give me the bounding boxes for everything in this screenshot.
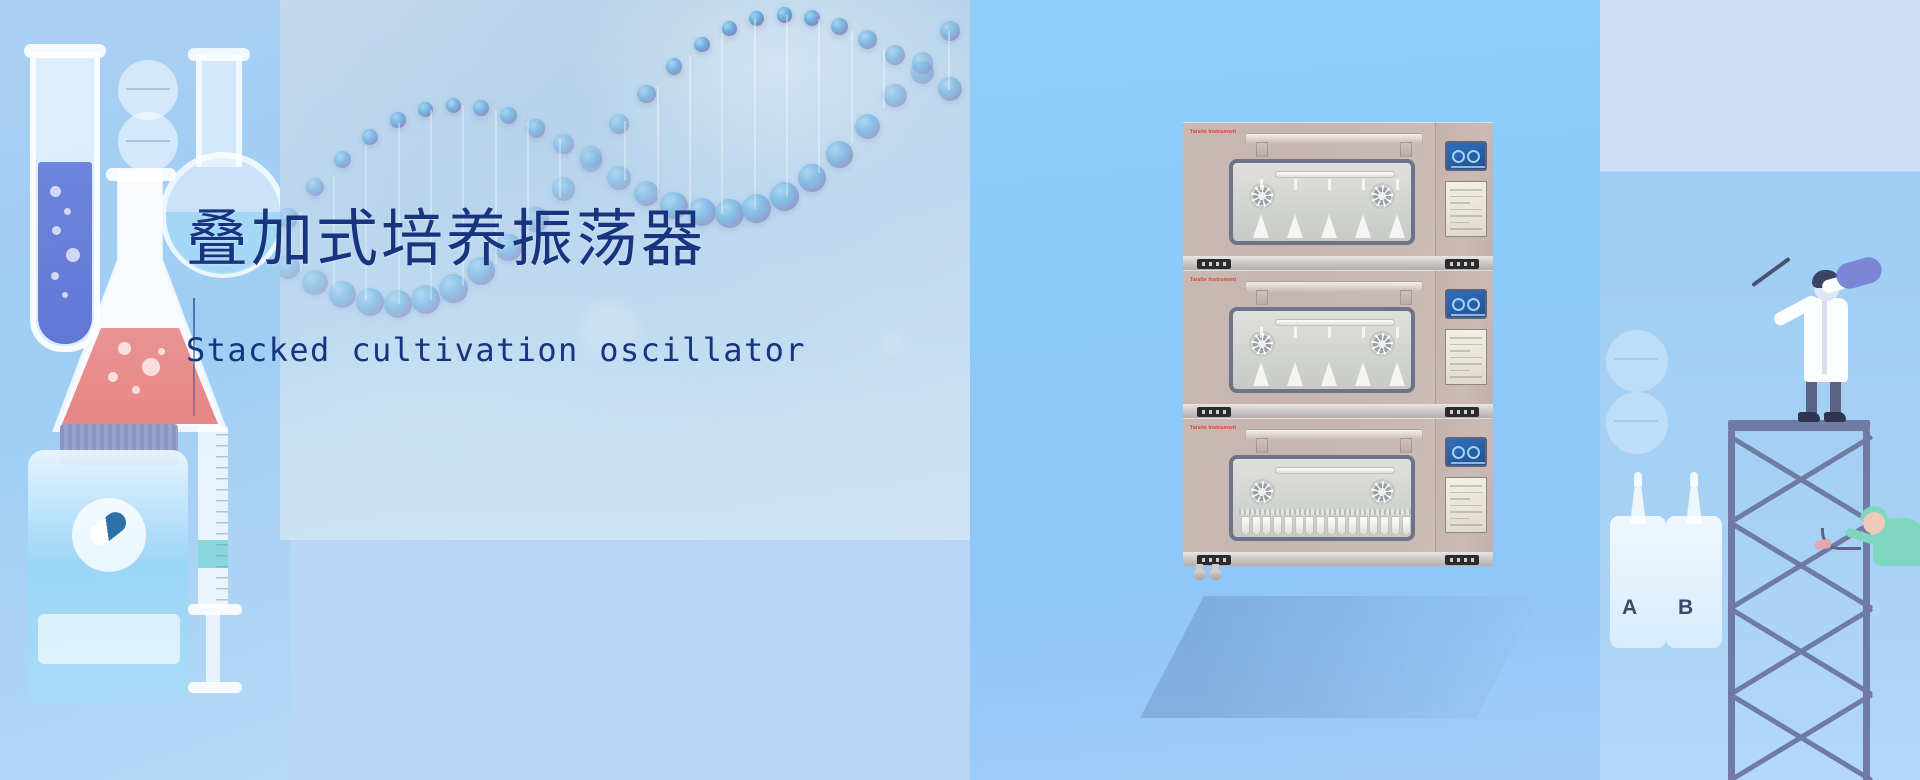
test-tube: [1241, 516, 1250, 535]
oscillator-unit: Taisite InstrumentTHZ-420: [1183, 418, 1493, 566]
culture-flask-row: [1243, 348, 1409, 386]
vent-grille-icon: [1197, 407, 1231, 417]
banner-title-cn: 叠加式培养振荡器: [186, 206, 806, 273]
chamber-light-bar: [1275, 319, 1395, 326]
unit-body: Taisite InstrumentTHZ-420: [1183, 418, 1435, 566]
lcd-display[interactable]: [1445, 289, 1487, 319]
chamber-fan-icon: [1249, 479, 1275, 505]
chamber-window: [1229, 159, 1415, 245]
test-tube: [1284, 516, 1293, 535]
culture-flask: [1321, 362, 1337, 386]
panel-scientist-illustration: A B: [1600, 0, 1920, 780]
lcd-readout-line: [1451, 166, 1485, 168]
vent-grille-icon: [1445, 555, 1479, 565]
culture-flask: [1355, 362, 1371, 386]
test-tube: [1369, 516, 1378, 535]
oscillator-unit-wrapper: Taisite InstrumentTHZ-420: [1183, 122, 1493, 270]
chamber-window: [1229, 455, 1415, 541]
panel-lab-glassware: [0, 0, 290, 780]
lcd-dial-icon: [1452, 150, 1465, 163]
lcd-display[interactable]: [1445, 141, 1487, 171]
product-banner: Taisite InstrumentTHZ-420Taisite Instrum…: [0, 0, 1920, 780]
vent-grille-icon: [1445, 407, 1479, 417]
culture-flask: [1321, 214, 1337, 238]
petri-dish-icon: [1606, 330, 1668, 392]
lcd-dial-icon: [1467, 446, 1480, 459]
culture-flask-row: [1243, 200, 1409, 238]
test-tube: [1391, 516, 1400, 535]
lcd-readout-line: [1451, 314, 1485, 316]
lcd-readout-line: [1451, 462, 1485, 464]
oscillator-unit-wrapper: Taisite InstrumentTHZ-420: [1183, 418, 1493, 566]
lcd-dial-icon: [1452, 446, 1465, 459]
panel-document-label: [1445, 181, 1487, 237]
test-tube-liquid: [38, 162, 92, 344]
test-tube: [1262, 516, 1271, 535]
lcd-dial-icon: [1467, 150, 1480, 163]
brand-logo: Taisite Instrument: [1190, 277, 1236, 283]
caster-wheel: [1209, 564, 1222, 580]
culture-flask: [1287, 214, 1303, 238]
unit-base-rail: [1183, 256, 1493, 270]
test-tube: [1337, 516, 1346, 535]
petri-dish-icon: [118, 112, 178, 172]
control-panel[interactable]: [1435, 418, 1493, 566]
petri-dish-icon: [118, 60, 178, 120]
control-panel[interactable]: [1435, 270, 1493, 418]
chamber-fan-icon: [1369, 479, 1395, 505]
observation-tower: [1728, 420, 1870, 780]
caster-wheel: [1193, 564, 1206, 580]
test-tube: [1273, 516, 1282, 535]
test-tube: [1402, 516, 1411, 535]
brand-logo: Taisite Instrument: [1190, 425, 1236, 431]
lcd-dial-icon: [1452, 298, 1465, 311]
oscillator-unit: Taisite InstrumentTHZ-420: [1183, 270, 1493, 418]
title-divider-rule: [193, 298, 195, 416]
banner-title-en: Stacked cultivation oscillator: [186, 331, 806, 369]
test-tube: [1252, 516, 1261, 535]
round-flask-neck: [196, 55, 242, 167]
vent-grille-icon: [1197, 259, 1231, 269]
test-tube: [1359, 516, 1368, 535]
unit-body: Taisite InstrumentTHZ-420: [1183, 270, 1435, 418]
petri-dish-icon: [1606, 392, 1668, 454]
lcd-dial-icon: [1467, 298, 1480, 311]
test-tube: [1380, 516, 1389, 535]
unit-body: Taisite InstrumentTHZ-420: [1183, 122, 1435, 270]
panel-document-label: [1445, 477, 1487, 533]
scientist-with-telescope: [1778, 252, 1888, 432]
banner-text-block: 叠加式培养振荡器 Stacked cultivation oscillator: [186, 206, 806, 369]
test-tube: [1305, 516, 1314, 535]
unit-base-rail: [1183, 552, 1493, 566]
panel-document-label: [1445, 329, 1487, 385]
worker-with-sprayer: [1855, 492, 1920, 584]
vent-grille-icon: [1445, 259, 1479, 269]
chamber-light-bar: [1275, 467, 1395, 474]
culture-flask: [1355, 214, 1371, 238]
bottle-label: [38, 614, 180, 664]
culture-flask: [1287, 362, 1303, 386]
door-handle[interactable]: [1245, 133, 1423, 144]
culture-flask: [1253, 214, 1269, 238]
ampoule-b-label: B: [1678, 596, 1693, 620]
syringe-icon: [194, 400, 232, 700]
unit-base-rail: [1183, 404, 1493, 418]
test-tube: [1327, 516, 1336, 535]
culture-flask: [1253, 362, 1269, 386]
door-handle[interactable]: [1245, 281, 1423, 292]
culture-flask: [1389, 362, 1405, 386]
brand-logo: Taisite Instrument: [1190, 129, 1236, 135]
equipment-shadow: [1140, 596, 1540, 718]
door-handle[interactable]: [1245, 429, 1423, 440]
test-tube-rack: [1239, 505, 1413, 535]
medicine-bottle: [28, 450, 188, 705]
test-tube: [1316, 516, 1325, 535]
culture-flask: [1389, 214, 1405, 238]
erlenmeyer-flask-lip: [106, 168, 176, 181]
lcd-display[interactable]: [1445, 437, 1487, 467]
test-tube: [1348, 516, 1357, 535]
ampoule-a-label: A: [1622, 596, 1637, 620]
oscillator-unit: Taisite InstrumentTHZ-420: [1183, 122, 1493, 270]
oscillator-unit-wrapper: Taisite InstrumentTHZ-420: [1183, 270, 1493, 418]
stacked-cultivation-oscillator: Taisite InstrumentTHZ-420Taisite Instrum…: [1183, 122, 1493, 566]
test-tube: [1295, 516, 1304, 535]
round-flask-lip: [188, 48, 250, 61]
control-panel[interactable]: [1435, 122, 1493, 270]
chamber-window: [1229, 307, 1415, 393]
chamber-light-bar: [1275, 171, 1395, 178]
